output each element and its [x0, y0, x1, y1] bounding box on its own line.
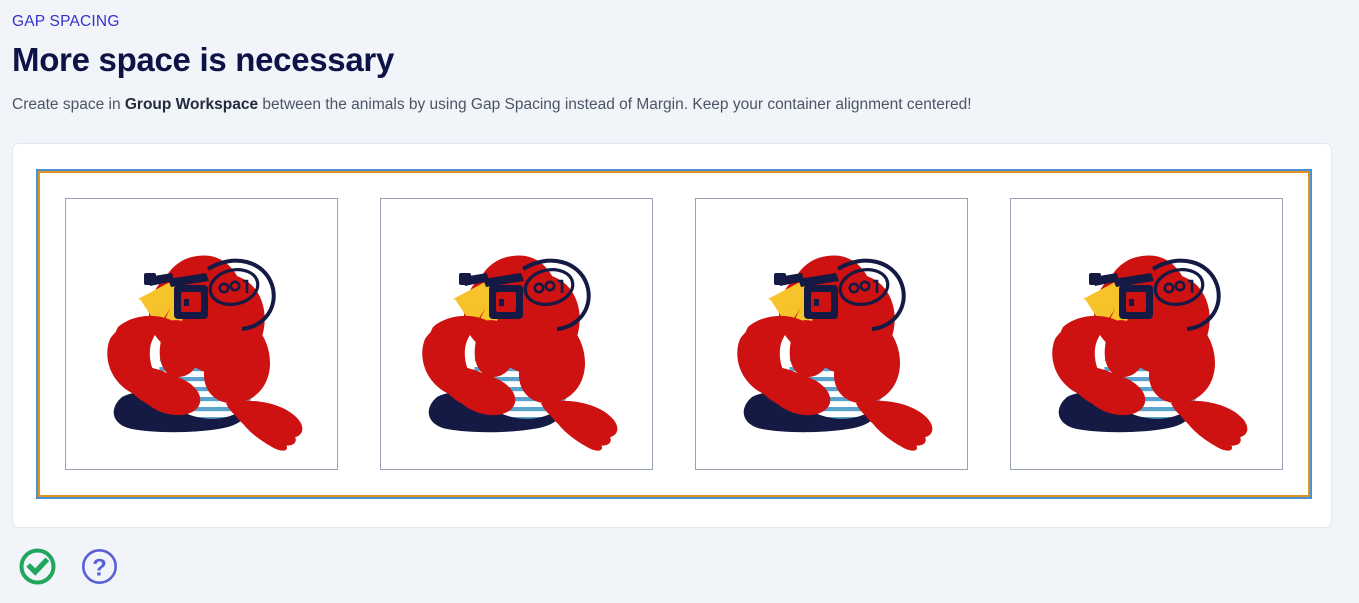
help-circle-icon[interactable]: ? [80, 547, 119, 586]
check-circle-icon[interactable] [18, 547, 57, 586]
parrot-illustration-icon [716, 217, 948, 452]
help-glyph: ? [92, 555, 107, 582]
description-emphasis: Group Workspace [125, 96, 258, 113]
page-title: More space is necessary [12, 42, 1347, 79]
parrot-illustration-icon [401, 217, 633, 452]
page-description: Create space in Group Workspace between … [12, 95, 1347, 116]
image-frame[interactable] [65, 198, 338, 470]
lesson-eyebrow-label: GAP SPACING [12, 13, 1347, 32]
description-text-tail: between the animals by using Gap Spacing… [258, 96, 971, 113]
description-text-lead: Create space in [12, 96, 125, 113]
page-header: GAP SPACING More space is necessary Crea… [0, 0, 1359, 115]
exercise-page: GAP SPACING More space is necessary Crea… [0, 0, 1359, 603]
parrot-illustration-icon [1031, 217, 1263, 452]
image-frame[interactable] [695, 198, 968, 470]
parrot-illustration-icon [86, 217, 318, 452]
image-frame[interactable] [1010, 198, 1283, 470]
group-workspace-container[interactable] [36, 169, 1312, 499]
group-workspace-flex-row [40, 173, 1308, 495]
footer-action-bar: ? [18, 547, 119, 586]
image-frame[interactable] [380, 198, 653, 470]
canvas-card [12, 143, 1332, 528]
